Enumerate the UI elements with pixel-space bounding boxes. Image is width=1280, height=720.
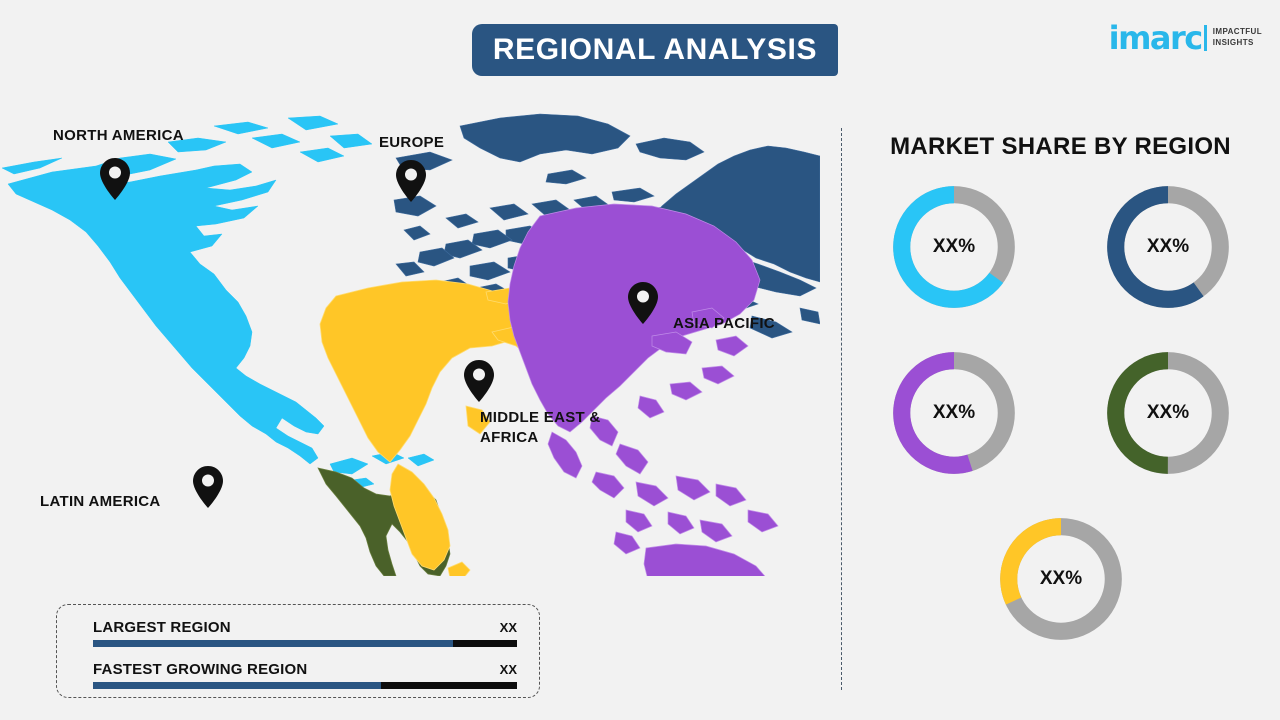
legend-row-largest-region: LARGEST REGION XX (93, 619, 517, 647)
map-label-middle-east-africa: MIDDLE EAST & AFRICA (480, 408, 601, 449)
imarc-logo: imarc IMPACTFUL INSIGHTS (1109, 22, 1262, 54)
donut-row-1: XX% XX% (855, 178, 1267, 316)
map-label-north-america: NORTH AMERICA (53, 126, 184, 146)
donut-chart-europe: XX% (1099, 178, 1237, 316)
map-pin-middle-east-africa[interactable] (464, 360, 494, 402)
legend-row-fastest-growing-region: FASTEST GROWING REGION XX (93, 661, 517, 689)
map-pin-asia-pacific[interactable] (628, 282, 658, 324)
logo-tagline-line2: INSIGHTS (1213, 38, 1262, 49)
map-label-latin-america: LATIN AMERICA (40, 492, 161, 512)
donut-value-label: XX% (1099, 178, 1237, 316)
page-title: REGIONAL ANALYSIS (493, 33, 817, 67)
donut-value-label: XX% (992, 510, 1130, 648)
donut-chart-middle-east-africa: XX% (992, 510, 1130, 648)
legend-progress-track (93, 640, 517, 647)
legend-value: XX (500, 662, 517, 677)
legend-label: LARGEST REGION (93, 619, 231, 636)
panel-divider (841, 128, 842, 690)
map-label-asia-pacific: ASIA PACIFIC (673, 314, 775, 334)
legend-label: FASTEST GROWING REGION (93, 661, 307, 678)
map-pin-north-america[interactable] (100, 158, 130, 200)
legend-progress-track (93, 682, 517, 689)
logo-tagline-line1: IMPACTFUL (1213, 27, 1262, 38)
legend-progress-fill (93, 682, 381, 689)
logo-separator-bar (1204, 25, 1207, 51)
donut-value-label: XX% (885, 178, 1023, 316)
regional-analysis-infographic: REGIONAL ANALYSIS imarc IMPACTFUL INSIGH… (0, 0, 1280, 720)
map-pin-europe[interactable] (396, 160, 426, 202)
logo-wordmark: imarc (1109, 22, 1202, 54)
donut-chart-latin-america: XX% (1099, 344, 1237, 482)
donut-chart-north-america: XX% (885, 178, 1023, 316)
donut-row-3: XX% (855, 510, 1267, 648)
donut-row-2: XX% XX% (855, 344, 1267, 482)
market-share-donut-grid: XX% XX% XX% (855, 178, 1267, 676)
page-title-banner: REGIONAL ANALYSIS (472, 24, 838, 76)
donut-chart-asia-pacific: XX% (885, 344, 1023, 482)
donut-value-label: XX% (1099, 344, 1237, 482)
panel-title: MARKET SHARE BY REGION (841, 133, 1280, 161)
map-pin-latin-america[interactable] (193, 466, 223, 508)
donut-value-label: XX% (885, 344, 1023, 482)
map-label-europe: EUROPE (379, 133, 444, 153)
legend-progress-fill (93, 640, 453, 647)
region-summary-box: LARGEST REGION XX FASTEST GROWING REGION… (56, 604, 540, 698)
legend-value: XX (500, 620, 517, 635)
logo-tagline: IMPACTFUL INSIGHTS (1213, 27, 1262, 49)
